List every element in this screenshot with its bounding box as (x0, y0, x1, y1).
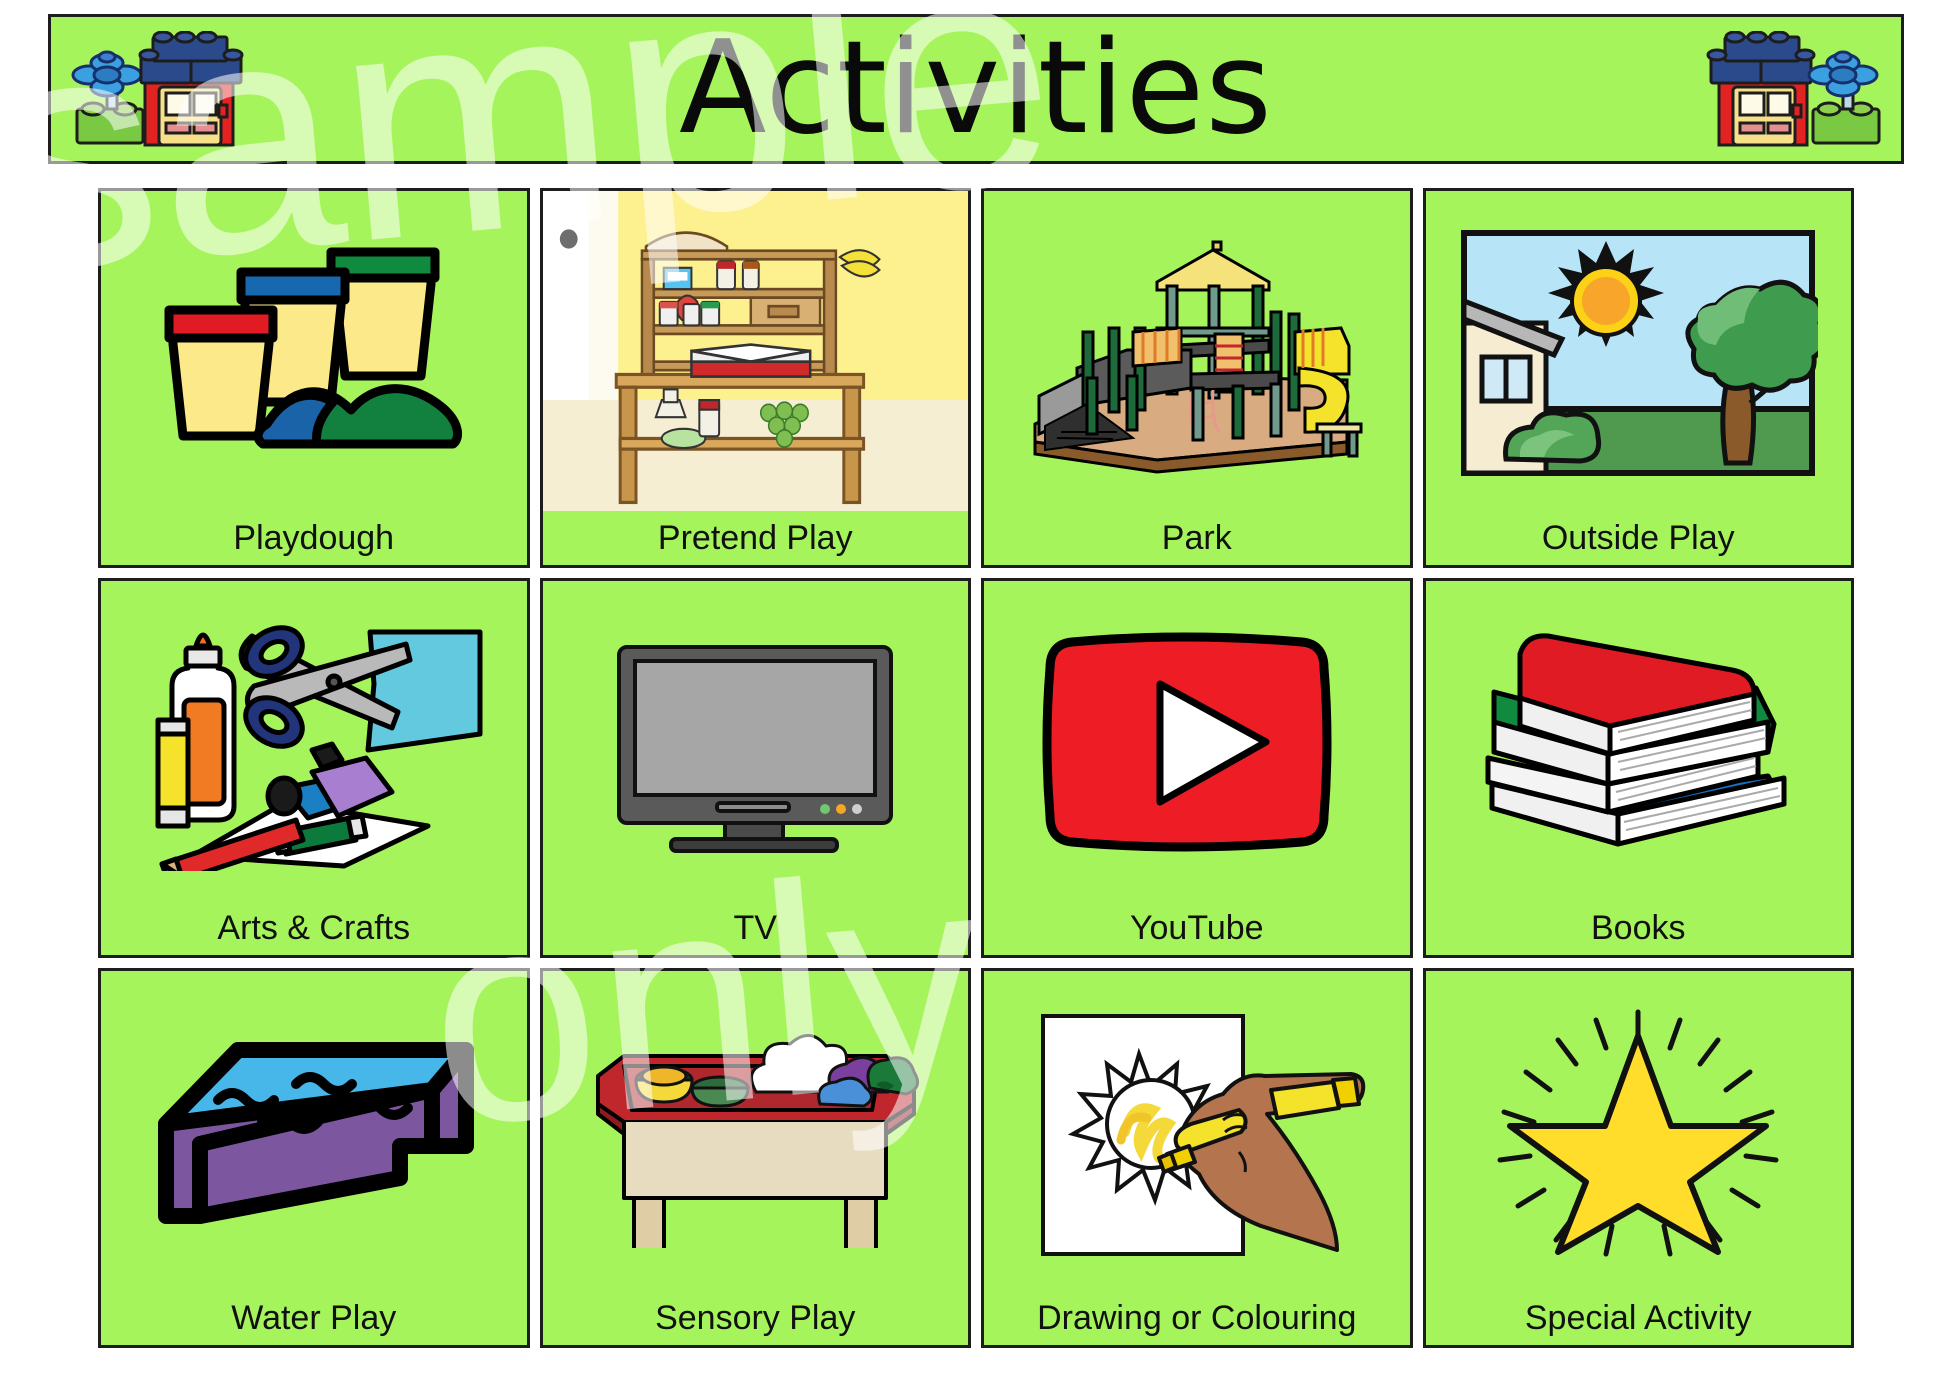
activity-card-sensory-play[interactable]: Sensory Play (540, 968, 972, 1348)
activity-label: Books (1591, 901, 1686, 955)
activity-label: Arts & Crafts (217, 901, 410, 955)
hand-crayon-icon (984, 971, 1410, 1291)
activity-grid: Playdough (98, 188, 1854, 1348)
activity-card-tv[interactable]: TV (540, 578, 972, 958)
star-icon (1426, 971, 1852, 1291)
television-icon (543, 581, 969, 901)
activity-card-books[interactable]: Books (1423, 578, 1855, 958)
playdough-tubs-icon (101, 191, 527, 511)
activity-card-park[interactable]: Park (981, 188, 1413, 568)
activity-label: Special Activity (1525, 1291, 1752, 1345)
lego-bricks-icon (1685, 31, 1885, 158)
activity-card-arts-crafts[interactable]: Arts & Crafts (98, 578, 530, 958)
sensory-table-icon (543, 971, 969, 1291)
activity-label: Water Play (231, 1291, 396, 1345)
youtube-play-icon (984, 581, 1410, 901)
water-table-icon (101, 971, 527, 1291)
book-stack-icon (1426, 581, 1852, 901)
activity-label: YouTube (1130, 901, 1264, 955)
header-banner: Activities (48, 14, 1904, 164)
activity-label: Sensory Play (655, 1291, 855, 1345)
play-kitchen-icon (543, 191, 969, 511)
activity-card-special-activity[interactable]: Special Activity (1423, 968, 1855, 1348)
activity-label: Park (1162, 511, 1232, 565)
activity-label: Pretend Play (658, 511, 853, 565)
activity-card-outside-play[interactable]: Outside Play (1423, 188, 1855, 568)
activity-card-youtube[interactable]: YouTube (981, 578, 1413, 958)
activities-board: Activities (0, 0, 1946, 1376)
activity-card-water-play[interactable]: Water Play (98, 968, 530, 1348)
house-sun-tree-icon (1426, 191, 1852, 511)
activity-label: TV (734, 901, 777, 955)
activity-card-pretend-play[interactable]: Pretend Play (540, 188, 972, 568)
activity-label: Playdough (233, 511, 394, 565)
activity-label: Outside Play (1542, 511, 1735, 565)
activity-card-drawing[interactable]: Drawing or Colouring (981, 968, 1413, 1348)
activity-card-playdough[interactable]: Playdough (98, 188, 530, 568)
page-title: Activities (51, 25, 1901, 153)
glue-scissors-icon (101, 581, 527, 901)
playground-icon (984, 191, 1410, 511)
activity-label: Drawing or Colouring (1037, 1291, 1356, 1345)
